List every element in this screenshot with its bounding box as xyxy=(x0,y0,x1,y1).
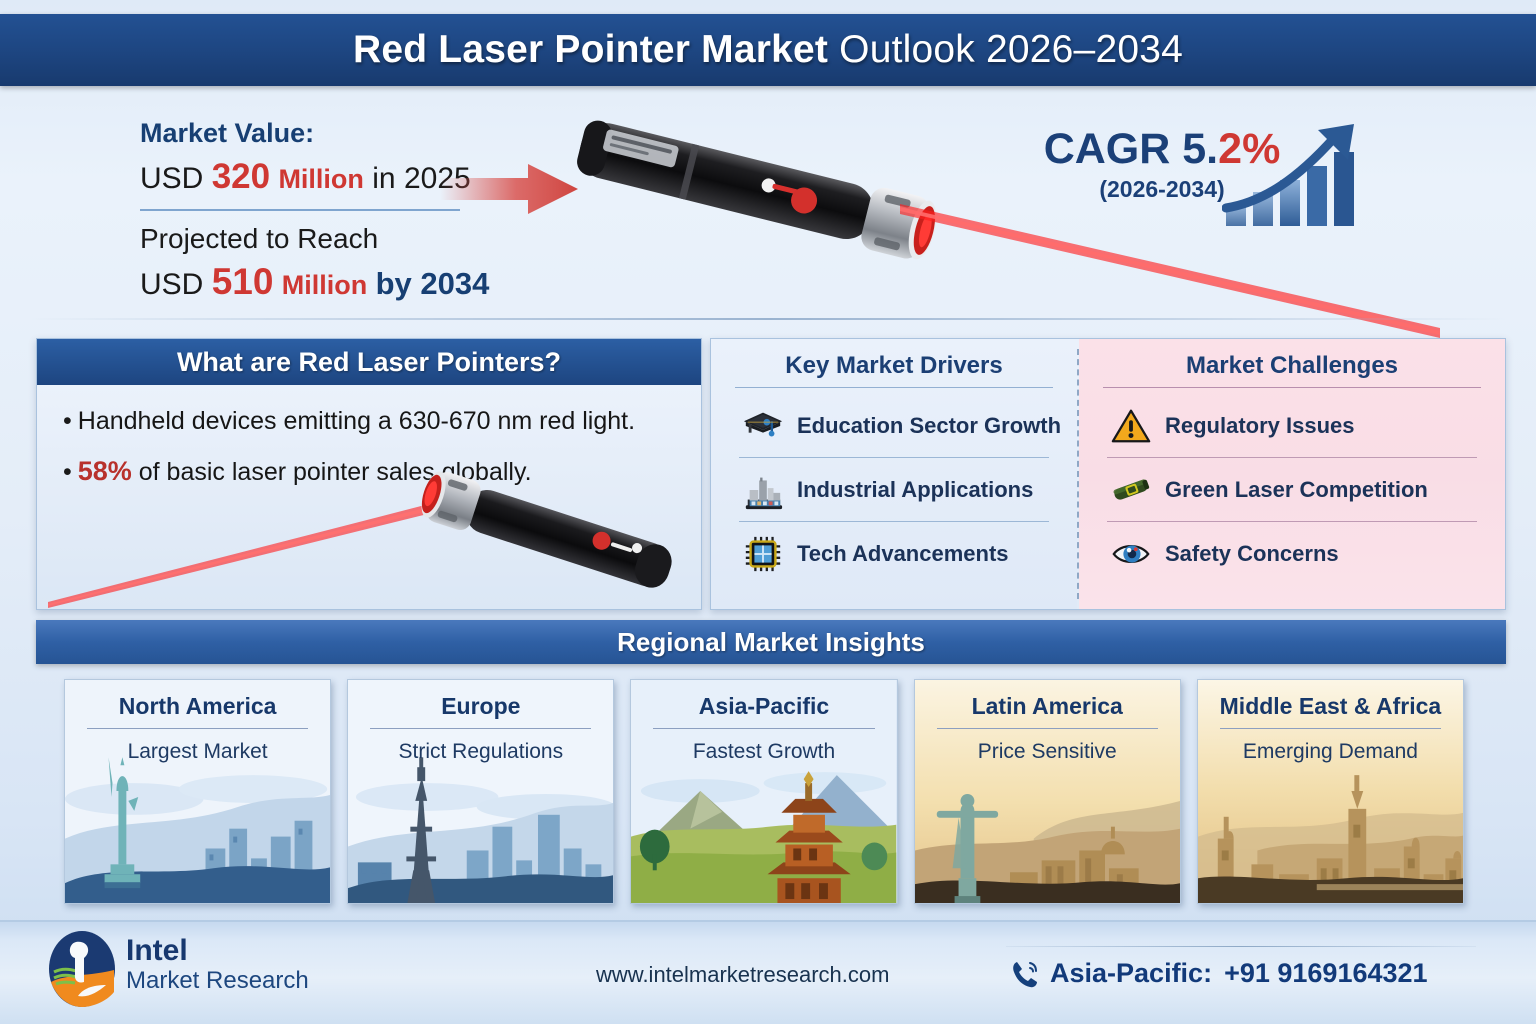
drivers-challenges-panel: Key Market Drivers Education Sect xyxy=(710,338,1506,610)
phone-icon xyxy=(1010,959,1040,989)
bullet-highlight-2: 58% xyxy=(78,456,132,486)
region-subtitle: Fastest Growth xyxy=(631,729,896,764)
phone-number: +91 9169164321 xyxy=(1224,958,1427,989)
challenges-rule xyxy=(1103,387,1481,388)
red-laser-pointer-icon xyxy=(380,460,680,595)
challenge-label: Safety Concerns xyxy=(1165,541,1339,567)
page-title-light: Outlook 2026–2034 xyxy=(839,28,1183,71)
driver-item-industrial[interactable]: Industrial Applications xyxy=(711,458,1077,521)
region-card-middle-east-africa[interactable]: Middle East & Africa Emerging Demand xyxy=(1197,679,1464,904)
drivers-title: Key Market Drivers xyxy=(711,339,1077,387)
section-divider xyxy=(30,318,1506,320)
driver-item-education[interactable]: Education Sector Growth xyxy=(711,394,1077,457)
projected-label: Projected to Reach xyxy=(140,223,500,255)
challenges-column: Market Challenges Regulatory Issues xyxy=(1079,339,1505,609)
green-laser-icon xyxy=(1109,468,1153,512)
challenge-label: Regulatory Issues xyxy=(1165,413,1355,439)
challenges-title: Market Challenges xyxy=(1079,339,1505,387)
million-unit-2: Million xyxy=(282,270,367,300)
region-title: Asia-Pacific xyxy=(631,680,896,720)
definition-title: What are Red Laser Pointers? xyxy=(177,347,561,378)
region-subtitle: Largest Market xyxy=(65,729,330,764)
footer-rule xyxy=(1006,946,1476,947)
region-card-asia-pacific[interactable]: Asia-Pacific Fastest Growth xyxy=(630,679,897,904)
regional-banner: Regional Market Insights xyxy=(36,620,1506,664)
intel-market-research-logo xyxy=(48,930,116,1008)
warning-triangle-icon xyxy=(1109,404,1153,448)
logo-wordmark: Intel Market Research xyxy=(126,935,309,994)
graduation-cap-icon xyxy=(741,404,785,448)
drivers-rule xyxy=(735,387,1053,388)
phone-label: Asia-Pacific: xyxy=(1050,958,1212,989)
definition-panel-header: What are Red Laser Pointers? xyxy=(37,339,701,385)
page-title: Red Laser Pointer Market Outlook 2026–20… xyxy=(353,28,1183,72)
microchip-icon xyxy=(741,532,785,576)
bullet-text-1: Handheld devices emitting a 630-670 nm r… xyxy=(78,407,635,435)
challenge-label: Green Laser Competition xyxy=(1165,477,1428,503)
region-card-north-america[interactable]: North America Largest Market xyxy=(64,679,331,904)
market-value-label: Market Value: xyxy=(140,118,500,149)
red-laser-pointer-icon xyxy=(555,105,975,295)
driver-label: Tech Advancements xyxy=(797,541,1009,567)
driver-item-tech[interactable]: Tech Advancements xyxy=(711,522,1077,585)
region-subtitle: Price Sensitive xyxy=(915,729,1180,764)
stats-divider xyxy=(140,209,460,211)
region-title: Latin America xyxy=(915,680,1180,720)
region-card-latin-america[interactable]: Latin America Price Sensitive xyxy=(914,679,1181,904)
region-card-list: North America Largest Market xyxy=(64,679,1464,904)
driver-label: Education Sector Growth xyxy=(797,413,1061,439)
growth-bar-chart-icon xyxy=(1222,120,1382,230)
region-title: Middle East & Africa xyxy=(1198,680,1463,720)
market-value-2034: USD 510 Million by 2034 xyxy=(140,261,500,303)
value-2034: 510 xyxy=(212,261,274,302)
region-card-europe[interactable]: Europe Strict Regulations xyxy=(347,679,614,904)
website-url[interactable]: www.intelmarketresearch.com xyxy=(596,962,889,988)
contact-phone[interactable]: Asia-Pacific: +91 9169164321 xyxy=(1010,958,1428,989)
driver-label: Industrial Applications xyxy=(797,477,1033,503)
title-bar: Red Laser Pointer Market Outlook 2026–20… xyxy=(0,14,1536,86)
challenge-item-regulatory[interactable]: Regulatory Issues xyxy=(1079,394,1505,457)
region-subtitle: Emerging Demand xyxy=(1198,729,1463,764)
eye-icon xyxy=(1109,532,1153,576)
bullet-dot: • xyxy=(63,458,72,486)
region-title: Europe xyxy=(348,680,613,720)
drivers-column: Key Market Drivers Education Sect xyxy=(711,339,1077,609)
bullet-dot: • xyxy=(63,407,72,435)
usd-prefix-1: USD xyxy=(140,162,203,195)
cagr-number: 5. xyxy=(1182,125,1218,173)
challenge-item-safety[interactable]: Safety Concerns xyxy=(1079,522,1505,585)
usd-prefix-2: USD xyxy=(140,268,203,301)
region-title: North America xyxy=(65,680,330,720)
infographic-page: Red Laser Pointer Market Outlook 2026–20… xyxy=(0,0,1536,1024)
year-2034: by 2034 xyxy=(376,266,490,301)
list-item: •Handheld devices emitting a 630-670 nm … xyxy=(63,407,701,436)
regional-banner-title: Regional Market Insights xyxy=(617,627,925,658)
region-subtitle: Strict Regulations xyxy=(348,729,613,764)
value-2025: 320 xyxy=(212,157,270,196)
brand-name-secondary: Market Research xyxy=(126,967,309,995)
brand-name-primary: Intel xyxy=(126,935,309,967)
page-title-bold: Red Laser Pointer Market xyxy=(353,28,828,71)
factory-icon xyxy=(741,468,785,512)
cagr-prefix: CAGR xyxy=(1044,125,1171,173)
million-unit-1: Million xyxy=(278,164,363,194)
challenge-item-green-laser[interactable]: Green Laser Competition xyxy=(1079,458,1505,521)
